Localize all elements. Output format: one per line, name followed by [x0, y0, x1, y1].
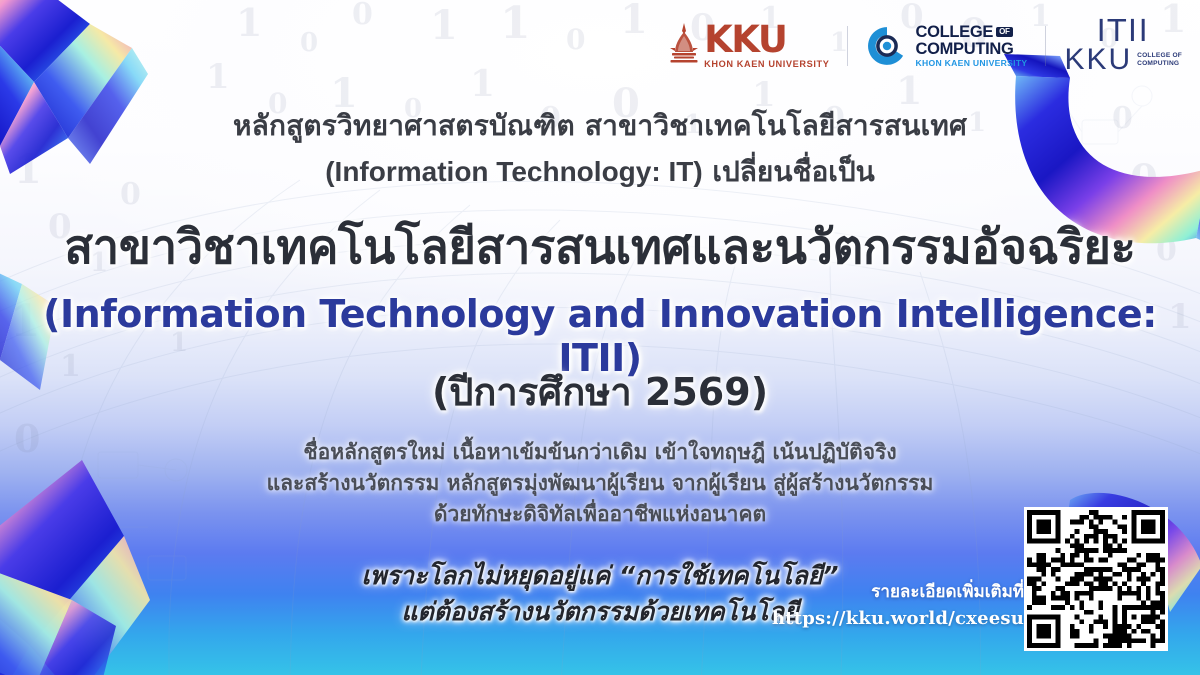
program-name-thai: สาขาวิชาเทคโนโลยีสารสนเทศและนวัตกรรมอัจฉ…: [0, 209, 1200, 284]
logo-divider-1: [847, 26, 848, 66]
body-line: และสร้างนวัตกรรม หลักสูตรมุ่งพัฒนาผู้เรี…: [0, 468, 1200, 499]
more-info-block: รายละเอียดเพิ่มเติมที่ https://kku.world…: [772, 578, 1024, 629]
cc-of-badge: OF: [996, 27, 1013, 37]
itii-line2: KKU: [1064, 46, 1132, 74]
headline-line-2: (Information Technology: IT) เปลี่ยนชื่อ…: [0, 150, 1200, 194]
cc-line3: KHON KAEN UNIVERSITY: [915, 59, 1027, 68]
college-of-computing-mark-icon: [866, 25, 908, 67]
headline-line-1: หลักสูตรวิทยาศาสตรบัณฑิต สาขาวิชาเทคโนโล…: [0, 104, 1200, 148]
headline-line-2-th: เปลี่ยนชื่อเป็น: [703, 155, 875, 188]
academic-year: (ปีการศึกษา 2569): [0, 361, 1200, 422]
itii-line1: ITII: [1097, 18, 1150, 46]
kku-temple-mark-icon: [669, 23, 699, 69]
itii-sub1: COLLEGE OF: [1137, 52, 1182, 60]
kku-wordmark: KKU: [704, 21, 829, 58]
body-paragraph: ชื่อหลักสูตรใหม่ เนื้อหาเข้มข้นกว่าเดิม …: [0, 437, 1200, 530]
body-line: ชื่อหลักสูตรใหม่ เนื้อหาเข้มข้นกว่าเดิม …: [0, 437, 1200, 468]
logo-row: KKU KHON KAEN UNIVERSITY COLLEGE OF COMP…: [669, 18, 1182, 73]
qr-code[interactable]: [1024, 507, 1168, 651]
headline-line-2-en: (Information Technology: IT): [325, 156, 702, 187]
itii-logo: ITII KKU COLLEGE OF COMPUTING: [1064, 18, 1182, 73]
college-of-computing-logo: COLLEGE OF COMPUTING KHON KAEN UNIVERSIT…: [866, 24, 1027, 67]
cc-line2: COMPUTING: [915, 41, 1027, 58]
poster-canvas: 1001101011001011010100110110010110101001…: [0, 0, 1200, 675]
body-line: ด้วยทักษะดิจิทัลเพื่ออาชีพแห่งอนาคต: [0, 499, 1200, 530]
more-info-label: รายละเอียดเพิ่มเติมที่: [772, 578, 1024, 605]
cc-line1: COLLEGE: [915, 24, 993, 41]
kku-logo: KKU KHON KAEN UNIVERSITY: [669, 21, 829, 69]
qr-code-icon: [1027, 510, 1165, 648]
itii-sub2: COMPUTING: [1137, 60, 1182, 68]
more-info-url[interactable]: https://kku.world/cxeesu: [772, 608, 1024, 629]
kku-subtitle: KHON KAEN UNIVERSITY: [704, 60, 829, 69]
logo-divider-2: [1045, 26, 1046, 66]
